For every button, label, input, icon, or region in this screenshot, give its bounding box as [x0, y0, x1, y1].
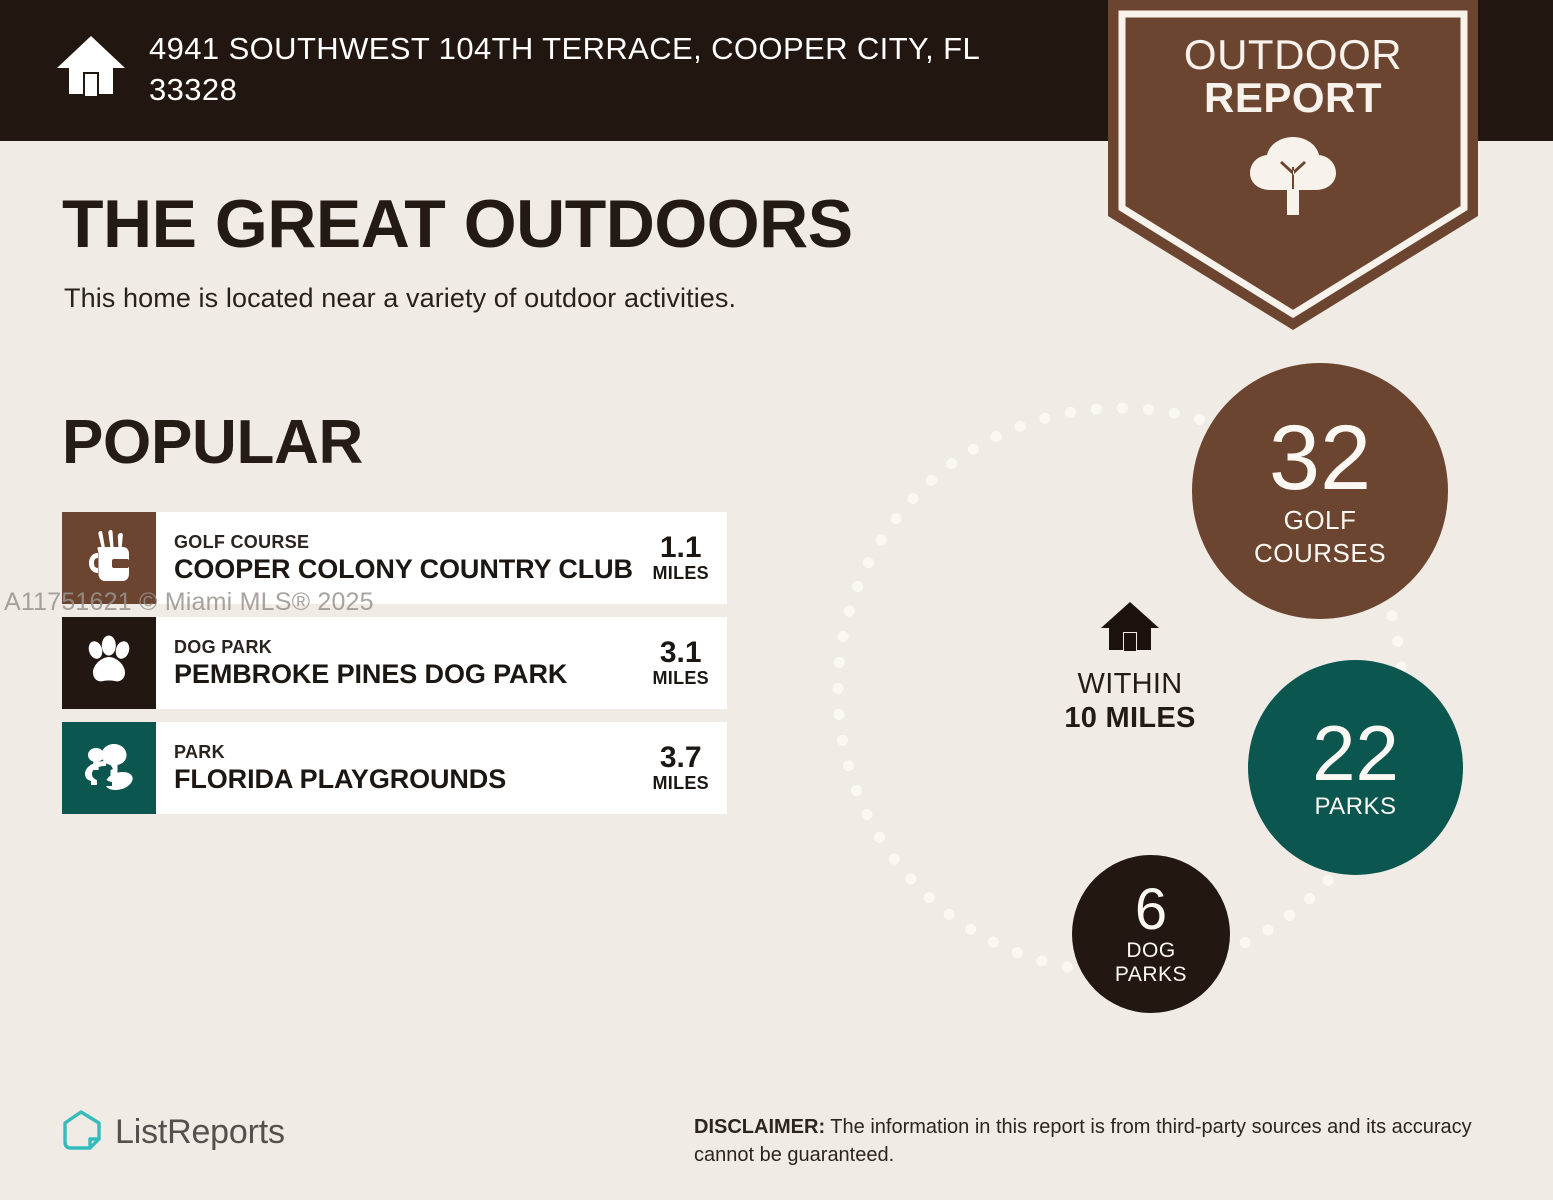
stat-parks[interactable]: 22 PARKS	[1248, 660, 1463, 875]
header-content: 4941 SOUTHWEST 104TH TERRACE, COOPER CIT…	[55, 28, 1065, 110]
stat-label-line1: DOG	[1126, 940, 1175, 962]
golf-bag-icon-tile	[62, 512, 156, 604]
distance-unit: MILES	[652, 773, 709, 794]
stat-golf-courses[interactable]: 32 GOLF COURSES	[1192, 363, 1448, 619]
popular-list: GOLF COURSE COOPER COLONY COUNTRY CLUB 1…	[62, 512, 727, 827]
section-heading-popular: POPULAR	[62, 412, 363, 474]
list-item-name: FLORIDA PLAYGROUNDS	[174, 763, 506, 795]
distance-value: 3.7	[652, 742, 709, 774]
stat-label-line1: GOLF	[1284, 507, 1357, 534]
stats-ring: WITHIN 10 MILES 32 GOLF COURSES 22 PARKS…	[800, 355, 1500, 1035]
stat-label-line2: COURSES	[1254, 540, 1386, 567]
property-address: 4941 SOUTHWEST 104TH TERRACE, COOPER CIT…	[149, 28, 1029, 110]
page-title: THE GREAT OUTDOORS	[62, 190, 853, 258]
list-item[interactable]: DOG PARK PEMBROKE PINES DOG PARK 3.1 MIL…	[62, 617, 727, 709]
listreports-wordmark: ListReports	[115, 1113, 285, 1152]
list-item-distance: 3.1 MILES	[642, 637, 709, 690]
list-item-labels: PARK FLORIDA PLAYGROUNDS	[174, 741, 506, 796]
golf-bag-icon	[84, 529, 134, 588]
disclaimer-label: DISCLAIMER:	[694, 1116, 825, 1138]
park-trees-icon-tile	[62, 722, 156, 814]
stat-label-line1: PARKS	[1314, 794, 1396, 819]
listreports-logo[interactable]: ListReports	[60, 1108, 285, 1157]
park-trees-icon	[82, 740, 136, 797]
disclaimer: DISCLAIMER: The information in this repo…	[694, 1113, 1494, 1170]
list-item[interactable]: GOLF COURSE COOPER COLONY COUNTRY CLUB 1…	[62, 512, 727, 604]
distance-value: 1.1	[652, 532, 709, 564]
distance-unit: MILES	[652, 563, 709, 584]
list-item-labels: GOLF COURSE COOPER COLONY COUNTRY CLUB	[174, 531, 633, 586]
within-line-1: WITHIN	[1030, 667, 1230, 701]
listreports-house-icon	[60, 1108, 104, 1157]
list-item-category: GOLF COURSE	[174, 531, 633, 554]
stat-dog-parks[interactable]: 6 DOG PARKS	[1072, 855, 1230, 1013]
house-icon	[1030, 600, 1230, 659]
list-item-body: GOLF COURSE COOPER COLONY COUNTRY CLUB 1…	[156, 512, 727, 604]
list-item-labels: DOG PARK PEMBROKE PINES DOG PARK	[174, 636, 567, 691]
list-item-body: DOG PARK PEMBROKE PINES DOG PARK 3.1 MIL…	[156, 617, 727, 709]
list-item-name: COOPER COLONY COUNTRY CLUB	[174, 553, 633, 585]
list-item[interactable]: PARK FLORIDA PLAYGROUNDS 3.7 MILES	[62, 722, 727, 814]
ring-center-label: WITHIN 10 MILES	[1030, 600, 1230, 735]
list-item-distance: 3.7 MILES	[642, 742, 709, 795]
distance-value: 3.1	[652, 637, 709, 669]
list-item-category: DOG PARK	[174, 636, 567, 659]
list-item-body: PARK FLORIDA PLAYGROUNDS 3.7 MILES	[156, 722, 727, 814]
list-item-category: PARK	[174, 741, 506, 764]
outdoor-report-page: 4941 SOUTHWEST 104TH TERRACE, COOPER CIT…	[0, 0, 1553, 1200]
distance-unit: MILES	[652, 668, 709, 689]
stat-value: 6	[1135, 882, 1167, 937]
paw-icon-tile	[62, 617, 156, 709]
outdoor-report-badge: OUTDOOR REPORT	[1108, 0, 1478, 330]
stat-value: 22	[1312, 716, 1399, 790]
list-item-distance: 1.1 MILES	[642, 532, 709, 585]
house-icon	[55, 34, 127, 103]
stat-label-line2: PARKS	[1115, 964, 1187, 986]
page-subtitle: This home is located near a variety of o…	[64, 283, 736, 314]
within-line-2: 10 MILES	[1030, 701, 1230, 735]
list-item-name: PEMBROKE PINES DOG PARK	[174, 658, 567, 690]
stat-value: 32	[1269, 415, 1371, 502]
paw-icon	[83, 635, 135, 692]
